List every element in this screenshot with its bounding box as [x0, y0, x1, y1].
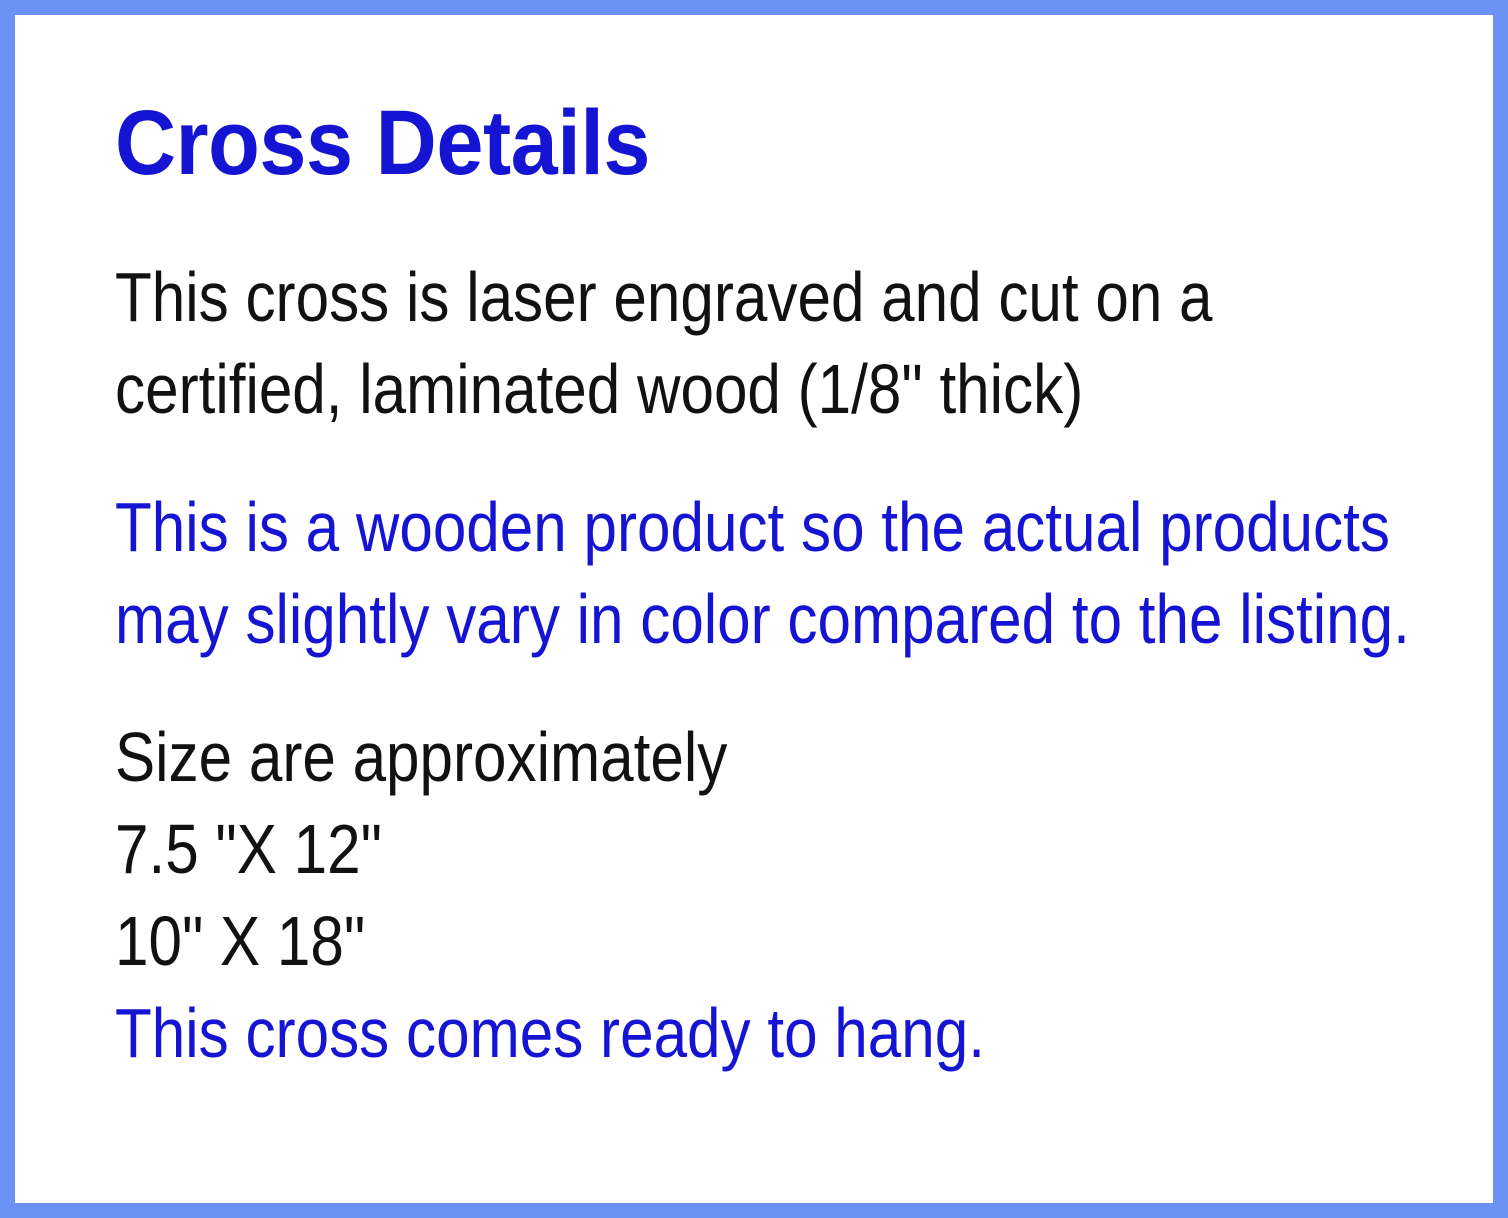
cross-details-card: Cross Details This cross is laser engrav… — [0, 0, 1508, 1218]
disclaimer-paragraph: This is a wooden product so the actual p… — [115, 481, 1410, 665]
page-title: Cross Details — [115, 97, 650, 189]
hanging-line: This cross comes ready to hang. — [115, 987, 985, 1079]
size-option-1: 7.5 "X 12" — [115, 803, 727, 895]
description-line-2: certified, laminated wood (1/8" thick) — [115, 343, 1213, 435]
card-body: Cross Details This cross is laser engrav… — [15, 15, 1493, 1203]
disclaimer-line-1: This is a wooden product so the actual p… — [115, 481, 1410, 573]
size-paragraph: Size are approximately 7.5 "X 12" 10" X … — [115, 711, 727, 987]
hanging-paragraph: This cross comes ready to hang. — [115, 987, 985, 1079]
size-option-2: 10" X 18" — [115, 895, 727, 987]
description-line-1: This cross is laser engraved and cut on … — [115, 251, 1213, 343]
size-heading: Size are approximately — [115, 711, 727, 803]
disclaimer-line-2: may slightly vary in color compared to t… — [115, 573, 1410, 665]
description-paragraph: This cross is laser engraved and cut on … — [115, 251, 1213, 435]
